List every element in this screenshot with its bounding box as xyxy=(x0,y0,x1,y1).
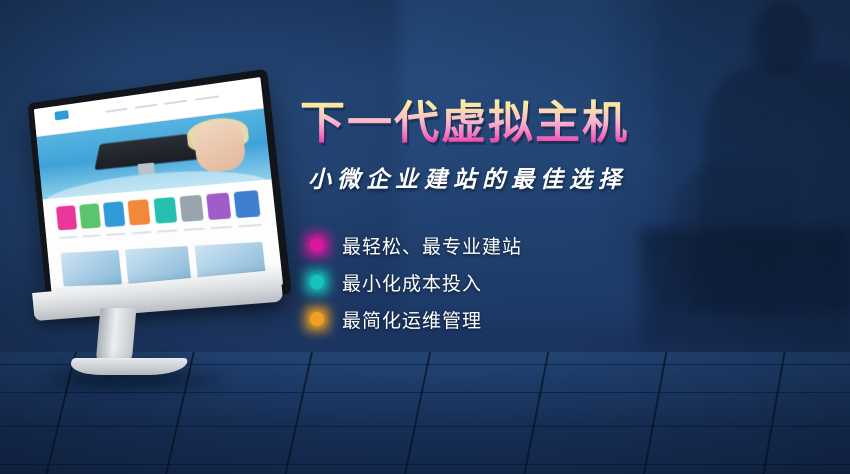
feature-bullet-list: 最轻松、最专业建站最小化成本投入最简化运维管理 xyxy=(304,228,720,336)
website-app-icon xyxy=(234,190,260,218)
caption-line xyxy=(183,228,204,231)
nav-item xyxy=(164,99,188,104)
nav-item xyxy=(195,95,219,100)
copy-block: 下一代虚拟主机 小微企业建站的最佳选择 最轻松、最专业建站最小化成本投入最简化运… xyxy=(300,98,720,339)
nav-item xyxy=(106,108,128,113)
monitor-stand-base xyxy=(68,358,189,375)
monitor-screen-bezel xyxy=(27,69,291,302)
website-app-icon xyxy=(153,197,177,224)
caption-line xyxy=(82,235,101,238)
website-app-icon xyxy=(179,195,204,223)
monitor-stand-neck xyxy=(96,308,137,364)
website-app-icon xyxy=(79,203,101,229)
hero-banner: 下一代虚拟主机 小微企业建站的最佳选择 最轻松、最专业建站最小化成本投入最简化运… xyxy=(0,0,850,474)
website-app-icon xyxy=(103,201,126,227)
model-face xyxy=(193,119,247,174)
bullet-label: 最简化运维管理 xyxy=(342,306,482,333)
nav-item xyxy=(134,104,157,109)
feature-bullet-2: 最小化成本投入 xyxy=(304,265,720,299)
caption-line xyxy=(59,236,77,239)
imac-monitor-illustration xyxy=(8,86,293,406)
bullet-label: 最小化成本投入 xyxy=(342,269,482,296)
bullet-dot-icon xyxy=(304,306,330,332)
feature-bullet-3: 最简化运维管理 xyxy=(304,302,720,336)
website-logo-icon xyxy=(55,110,69,120)
website-preview xyxy=(34,77,283,293)
caption-line xyxy=(131,231,151,234)
bullet-dot-icon xyxy=(304,269,330,295)
subheadline: 小微企业建站的最佳选择 xyxy=(308,160,720,194)
caption-line xyxy=(157,230,177,233)
headline: 下一代虚拟主机 xyxy=(300,98,720,148)
website-app-icon xyxy=(128,199,151,226)
floor-line-horizontal xyxy=(0,464,850,465)
bullet-label: 最轻松、最专业建站 xyxy=(342,232,522,259)
website-app-icon xyxy=(56,205,77,231)
website-app-icon xyxy=(206,192,231,220)
caption-line xyxy=(106,233,125,236)
floor-line-horizontal xyxy=(0,426,850,427)
caption-line xyxy=(211,226,233,229)
bullet-dot-icon xyxy=(304,232,330,258)
caption-line xyxy=(239,224,261,228)
thumbnail xyxy=(60,250,122,287)
feature-bullet-1: 最轻松、最专业建站 xyxy=(304,228,720,262)
